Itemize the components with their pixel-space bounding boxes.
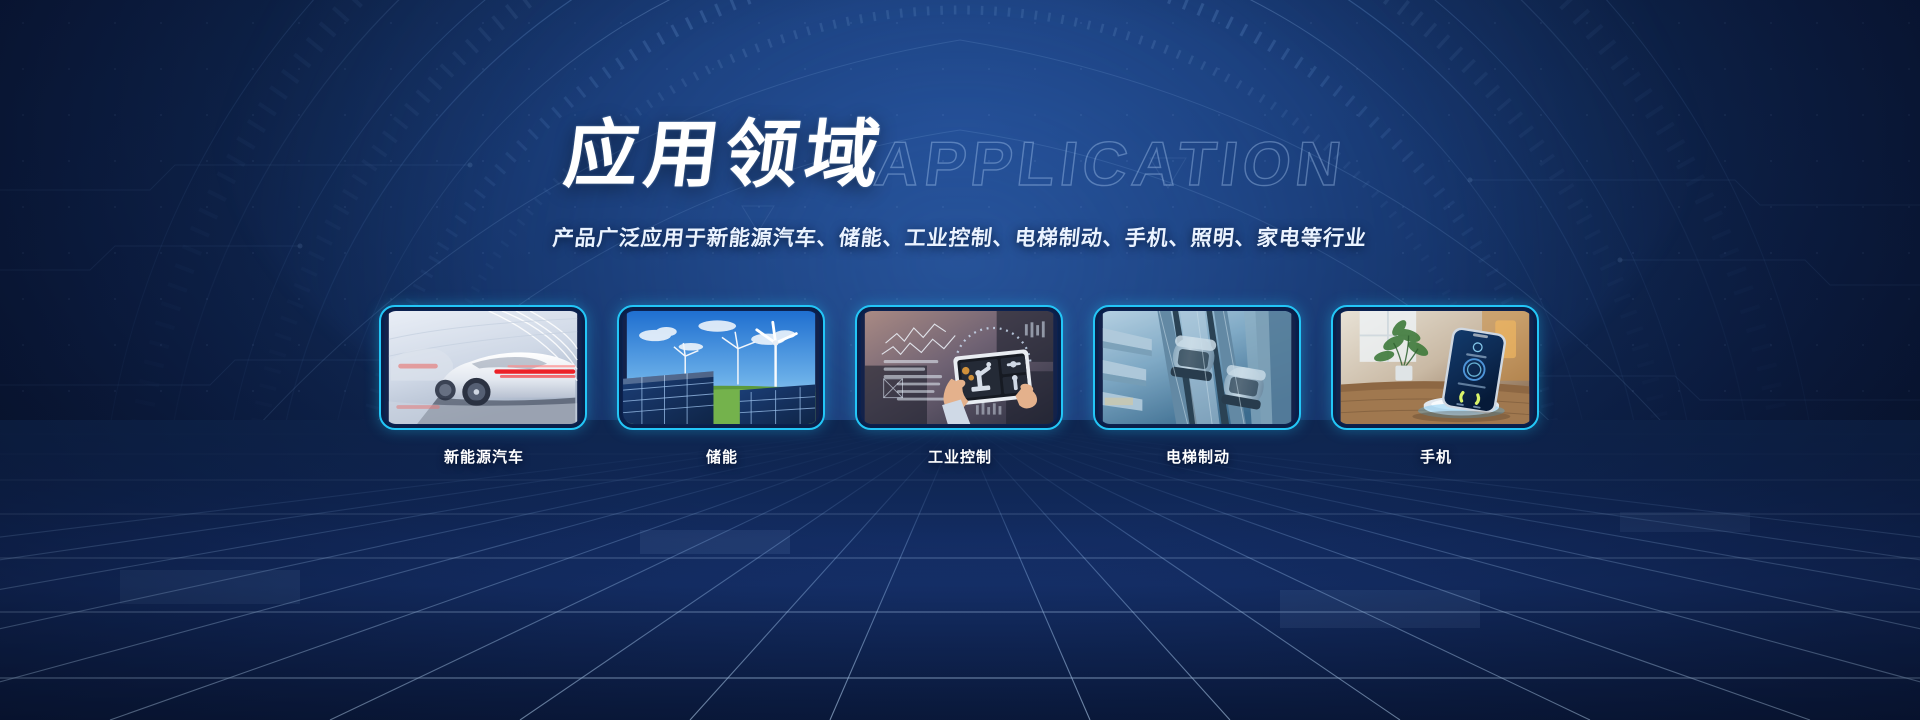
application-card-list: 新能源汽车 xyxy=(0,305,1920,467)
card-thumbnail-frame[interactable] xyxy=(1331,305,1539,430)
industrial-control-tablet-icon xyxy=(861,311,1057,424)
application-card[interactable]: 新能源汽车 xyxy=(379,305,589,467)
card-label: 工业控制 xyxy=(855,446,1065,467)
card-thumbnail-frame[interactable] xyxy=(379,305,587,430)
application-card[interactable]: 电梯制动 xyxy=(1093,305,1303,467)
elevator-shaft-icon xyxy=(1099,311,1295,424)
card-label: 储能 xyxy=(617,446,827,467)
card-label: 电梯制动 xyxy=(1093,446,1303,467)
card-label: 新能源汽车 xyxy=(379,446,589,467)
ev-sports-car-icon xyxy=(385,311,581,424)
banner-heading: 应用领域APPLICATION xyxy=(0,118,1920,192)
solar-wind-energy-icon xyxy=(623,311,819,424)
application-card[interactable]: 工业控制 xyxy=(855,305,1065,467)
page-title: 应用领域 xyxy=(560,118,889,192)
card-thumbnail-frame[interactable] xyxy=(1093,305,1301,430)
card-thumbnail-frame[interactable] xyxy=(617,305,825,430)
page-title-english: APPLICATION xyxy=(871,134,1349,196)
application-banner: 应用领域APPLICATION 产品广泛应用于新能源汽车、储能、工业控制、电梯制… xyxy=(0,0,1920,720)
card-thumbnail-frame[interactable] xyxy=(855,305,1063,430)
banner-subtitle: 产品广泛应用于新能源汽车、储能、工业控制、电梯制动、手机、照明、家电等行业 xyxy=(0,222,1920,252)
smartphone-charging-stand-icon xyxy=(1337,311,1533,424)
application-card[interactable]: 手机 xyxy=(1331,305,1541,467)
card-label: 手机 xyxy=(1331,446,1541,467)
application-card[interactable]: 储能 xyxy=(617,305,827,467)
